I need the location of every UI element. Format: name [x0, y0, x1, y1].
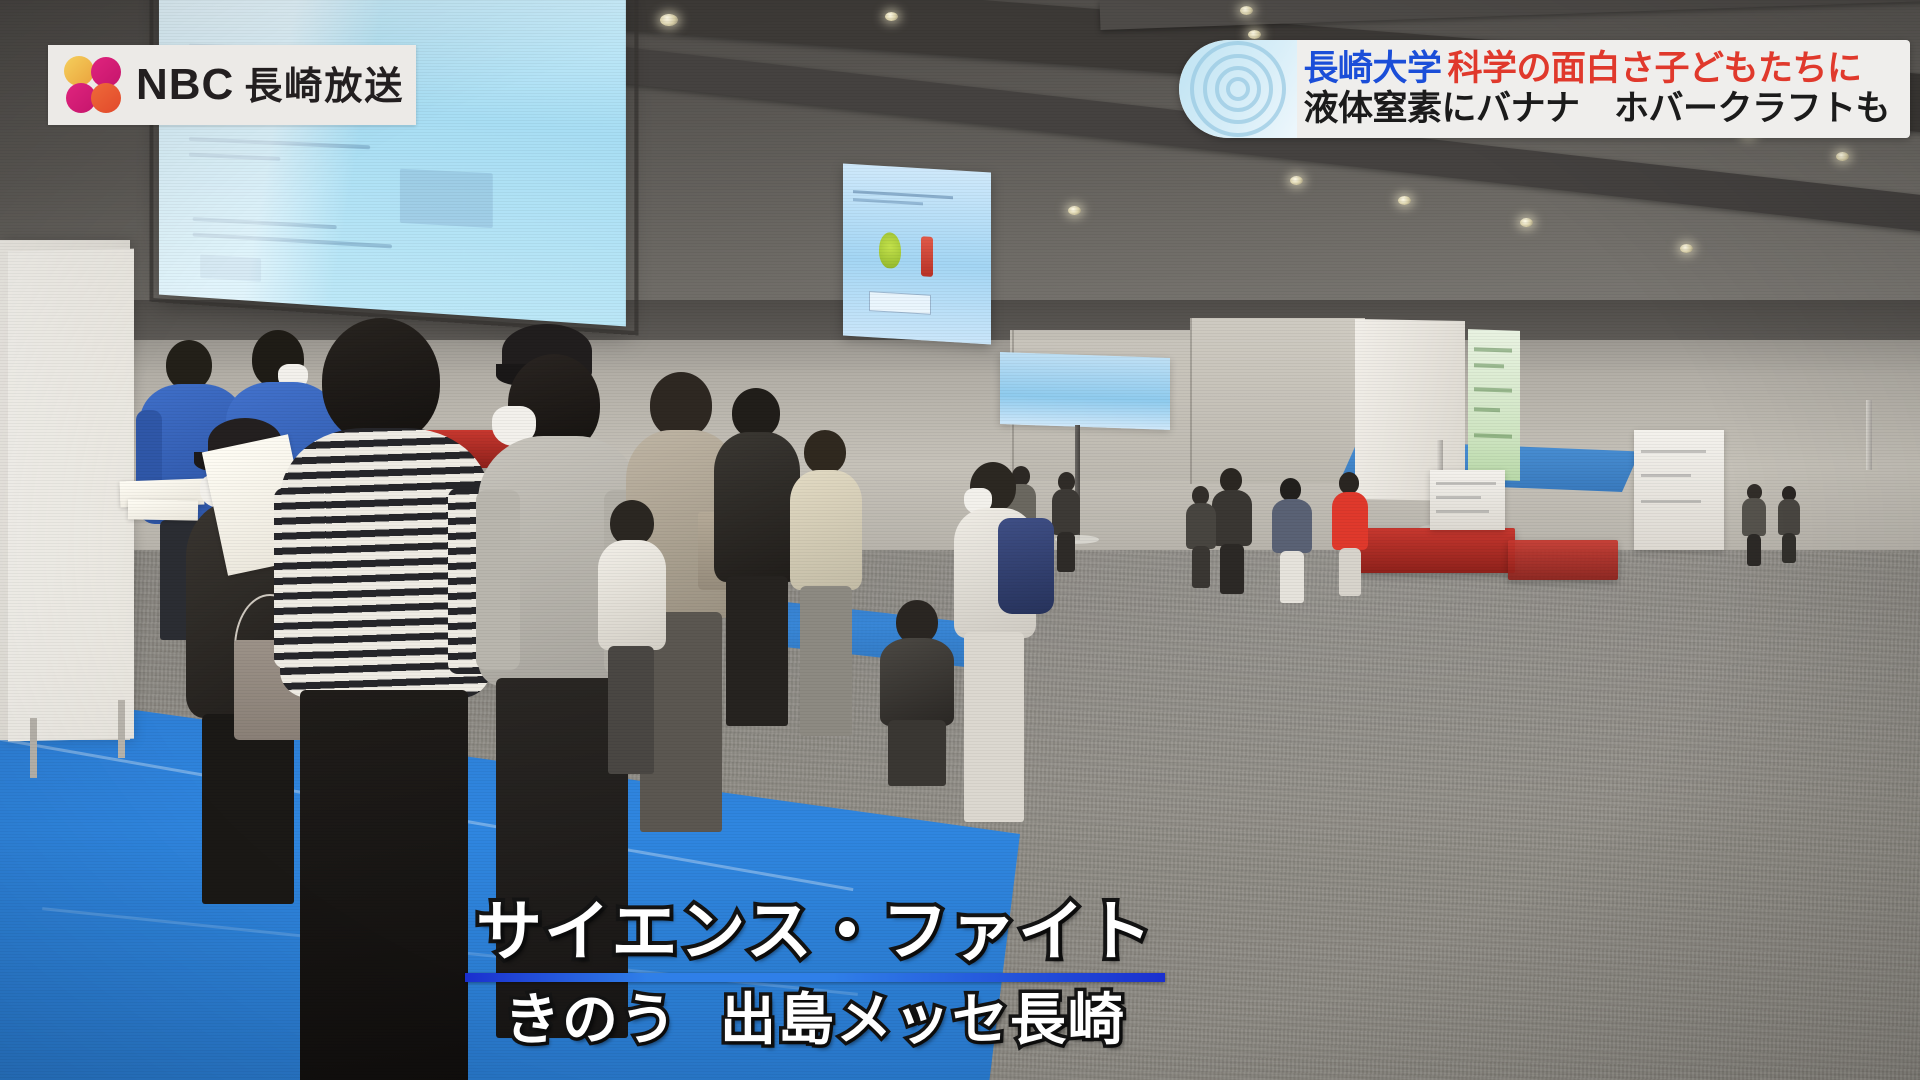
person-torso: [880, 638, 954, 726]
board-line: [1436, 510, 1489, 513]
nbc-four-dot-logo-icon: [64, 56, 122, 114]
person-head: [1339, 472, 1359, 494]
person-torso: [714, 432, 800, 582]
wall-seam: [1190, 318, 1192, 484]
person-legs: [1747, 534, 1761, 566]
headline-topic: 科学の面白さ子どもたちに: [1448, 49, 1862, 88]
poster-line: [1474, 363, 1504, 368]
person-torso: [1332, 492, 1368, 550]
caption-venue: 出島メッセ長崎: [720, 988, 1126, 1051]
board-line: [1436, 496, 1481, 499]
table-paper: [128, 499, 198, 520]
person-legs: [202, 714, 294, 904]
person-legs: [800, 586, 852, 736]
person-legs: [1192, 546, 1210, 588]
caption-event-title: サイエンス・ファイト: [455, 895, 1175, 969]
station-call-sign: NBC: [136, 60, 234, 109]
person-legs: [888, 720, 946, 786]
ceiling-light: [1836, 152, 1849, 161]
logo-dot-bottom-right: [91, 83, 121, 113]
logo-dot-top-left: [64, 56, 94, 86]
board-line: [1641, 474, 1691, 477]
slide-graphic: [869, 291, 931, 315]
headline-organization: 長崎大学: [1303, 49, 1441, 88]
board-line: [1641, 450, 1706, 453]
slide-text-line: [853, 198, 923, 205]
person-legs: [726, 576, 788, 726]
partition-leg: [118, 700, 125, 758]
ceiling-light: [1680, 244, 1693, 253]
headline-text-block: 長崎大学科学の面白さ子どもたちに 液体窒素にバナナ ホバークラフトも: [1297, 50, 1910, 128]
person-head: [1220, 468, 1242, 492]
sign-stand-pole: [1866, 400, 1872, 470]
person-legs: [964, 632, 1024, 822]
board-line: [1436, 482, 1496, 485]
caption-when: きのう: [504, 988, 678, 1051]
booth-display-board: [1430, 470, 1505, 530]
lower-third-caption: サイエンス・ファイト きのう出島メッセ長崎: [455, 895, 1175, 1052]
person-head: [322, 318, 440, 444]
person-torso: [1778, 499, 1800, 535]
person-torso: [598, 540, 666, 650]
broadcast-frame: NBC長崎放送 長崎大学科学の面白さ子どもたちに 液体窒素にバナナ ホバークラフ…: [0, 0, 1920, 1080]
person-torso: [1742, 498, 1766, 536]
poster-line: [1474, 407, 1500, 412]
headline-row-primary: 長崎大学科学の面白さ子どもたちに: [1303, 50, 1890, 89]
ceiling-light: [885, 12, 898, 21]
ripple-ring: [1226, 77, 1250, 101]
person-head: [166, 340, 212, 390]
person-legs: [1339, 548, 1361, 596]
poster-line: [1474, 433, 1512, 438]
booth-table: [1345, 528, 1515, 573]
person-legs: [1782, 533, 1796, 563]
person-legs: [1220, 544, 1244, 594]
slide-graphic-red: [921, 236, 933, 277]
person-legs: [300, 690, 468, 1080]
person-torso: [1272, 499, 1312, 553]
ceiling-light: [1068, 206, 1081, 215]
booth-display-board: [1634, 430, 1724, 550]
person-legs: [1057, 532, 1075, 572]
slide-text-line: [853, 190, 953, 199]
ceiling-light: [1398, 196, 1411, 205]
person-head: [804, 430, 846, 474]
headline-plate: 長崎大学科学の面白さ子どもたちに 液体窒素にバナナ ホバークラフトも: [1179, 40, 1910, 138]
person-torso: [1186, 503, 1216, 549]
person-arm: [274, 488, 326, 668]
person-head: [650, 372, 712, 438]
booth-table: [1508, 540, 1618, 580]
board-line: [1641, 500, 1700, 503]
backpack: [998, 518, 1054, 614]
person-torso: [790, 470, 862, 590]
ceiling-light: [1290, 176, 1303, 185]
exhibit-partition-wall-left-face: [8, 249, 134, 742]
ceiling-light: [1240, 6, 1253, 15]
ceiling-light: [660, 14, 678, 26]
person-torso: [1052, 489, 1080, 535]
ceiling-light: [1248, 30, 1261, 39]
station-logo-bug: NBC長崎放送: [48, 45, 416, 125]
poster-line: [1474, 347, 1512, 352]
caption-when-venue: きのう出島メッセ長崎: [455, 988, 1175, 1052]
person-head: [1280, 478, 1301, 501]
partition-leg: [30, 718, 37, 778]
secondary-projection-screen: [843, 163, 991, 344]
person-legs: [608, 646, 654, 774]
station-logo-text: NBC長崎放送: [136, 63, 404, 107]
person-torso: [1212, 490, 1252, 546]
exhibit-poster-green: [1468, 329, 1520, 481]
slide-graphic-green: [879, 232, 901, 269]
ceiling-light: [1520, 218, 1533, 227]
wall-panel: [1190, 318, 1365, 483]
poster-line: [1474, 387, 1512, 392]
caption-underline-rule: [465, 973, 1165, 982]
person-legs: [1280, 551, 1304, 603]
station-name-jp: 長崎放送: [244, 66, 404, 108]
headline-subline: 液体窒素にバナナ ホバークラフトも: [1303, 90, 1890, 129]
ripple-spiral-icon: [1179, 40, 1297, 138]
far-projection-screen: [1000, 352, 1170, 430]
person-arm: [476, 490, 520, 670]
person-head: [732, 388, 780, 438]
